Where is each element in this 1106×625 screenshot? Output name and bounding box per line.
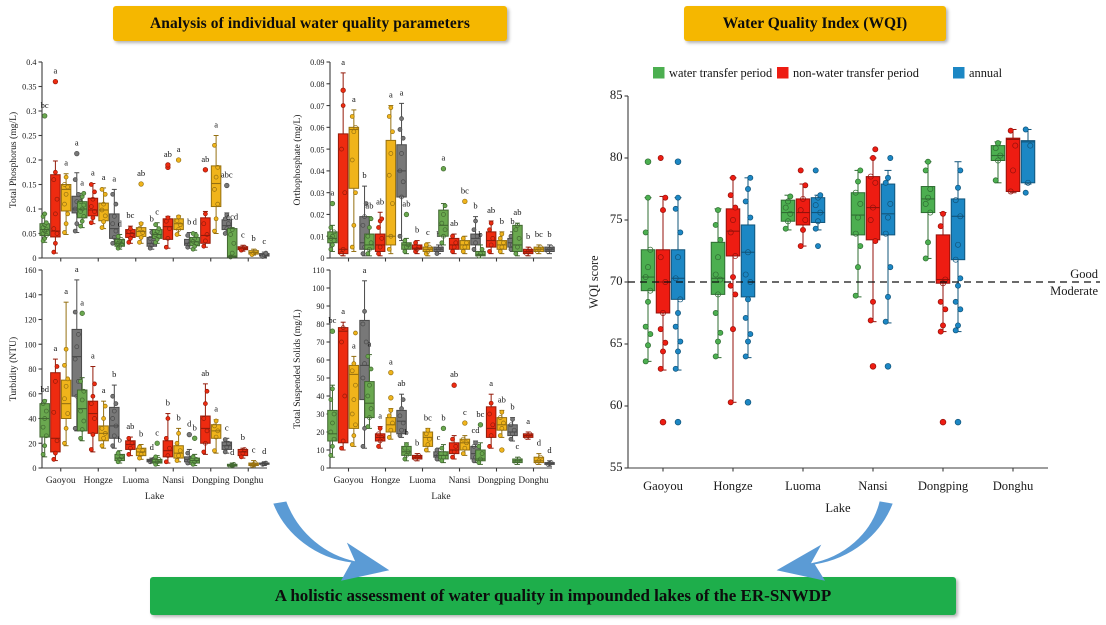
significance-letter: c	[437, 432, 441, 442]
wqi-y-tick-label: 60	[610, 398, 623, 412]
significance-letter: bc	[41, 100, 49, 110]
data-point	[128, 227, 132, 231]
box-wqi-Donghu-annual	[1021, 127, 1035, 195]
down-arrow-left	[268, 500, 398, 582]
box-orthophosphate-Luoma-green: ab	[402, 198, 412, 253]
data-point	[743, 315, 748, 320]
data-point	[643, 359, 648, 364]
total_suspended_solids-y-tick-label: 110	[313, 266, 325, 275]
data-point	[645, 299, 650, 304]
box-rect	[72, 329, 82, 396]
data-point	[748, 175, 753, 180]
data-point	[43, 399, 47, 403]
box-total_suspended_solids-Nansi-red: ab	[449, 369, 459, 459]
data-point	[223, 450, 227, 454]
box-wqi-Nansi-water transfer period	[851, 168, 865, 298]
data-point	[1023, 127, 1028, 132]
data-point	[855, 179, 860, 184]
box-total_phosphorus-Gaoyou-yellow: a	[61, 158, 71, 235]
data-point	[673, 206, 678, 211]
box-total_suspended_solids-Dongping-red: a	[486, 378, 496, 448]
data-point	[329, 453, 333, 457]
outlier-point	[187, 432, 192, 437]
data-point	[870, 155, 875, 160]
turbidity-y-tick-label: 20	[28, 439, 36, 448]
x-category-label-dongping: Dongping	[192, 476, 230, 486]
outlier-point	[155, 441, 160, 446]
data-point	[803, 183, 808, 188]
box-wqi-Gaoyou-annual	[671, 159, 685, 425]
significance-letter: a	[389, 357, 393, 367]
legend-swatch-2	[953, 67, 965, 79]
x-category-label-nansi: Nansi	[449, 476, 471, 486]
outlier-point	[203, 168, 208, 173]
data-point	[815, 243, 820, 248]
data-point	[389, 106, 393, 110]
data-point	[730, 327, 735, 332]
x-category-label-dongping: Dongping	[478, 476, 516, 486]
legend-swatch-1	[777, 67, 789, 79]
orthophosphate-y-tick-label: 0.06	[310, 124, 324, 133]
outlier-point	[463, 199, 468, 204]
orthophosphate-y-tick-label: 0.04	[310, 167, 324, 176]
significance-letter: a	[91, 351, 95, 361]
wqi-legend: water transfer periodnon-water transfer …	[653, 66, 1003, 80]
total_suspended_solids-y-tick-label: 90	[316, 302, 324, 311]
individual-parameters-svg: 00.050.10.150.20.250.30.350.4Total Phosp…	[0, 48, 580, 518]
data-point	[164, 436, 168, 440]
data-point	[64, 347, 68, 351]
data-point	[75, 222, 79, 226]
significance-letter: ab	[376, 196, 384, 206]
data-point	[461, 452, 465, 456]
box-turbidity-Donghu-yellow: c	[249, 445, 259, 468]
data-point	[745, 186, 750, 191]
box-orthophosphate-Nansi-red: ab	[449, 218, 459, 254]
total_suspended_solids-y-tick-label: 60	[316, 356, 324, 365]
data-point	[352, 434, 356, 438]
data-point	[350, 114, 354, 118]
wqi-panel: water transfer periodnon-water transfer …	[580, 48, 1106, 518]
box-total_phosphorus-Donghu-yellow: b	[249, 233, 259, 256]
banner-right-title: Water Quality Index (WQI)	[684, 6, 946, 41]
data-point	[353, 191, 357, 195]
data-point	[111, 444, 115, 448]
data-point	[139, 222, 143, 226]
data-point	[938, 299, 943, 304]
data-point	[783, 226, 788, 231]
data-point	[139, 235, 143, 239]
data-point	[658, 366, 663, 371]
data-point	[813, 226, 818, 231]
outlier-point	[225, 183, 230, 188]
data-point	[400, 117, 404, 121]
significance-letter: ab	[402, 198, 410, 208]
data-point	[53, 170, 57, 174]
significance-letter: ab	[164, 149, 172, 159]
significance-letter: b	[118, 435, 122, 445]
x-category-label-gaoyou: Gaoyou	[643, 479, 684, 493]
data-point	[472, 247, 476, 251]
box-turbidity-Nansi-red: b	[163, 398, 173, 464]
legend-label-2: annual	[969, 66, 1003, 80]
data-point	[116, 234, 120, 238]
data-point	[398, 434, 402, 438]
box-rect	[386, 140, 396, 245]
data-point	[191, 455, 195, 459]
box-turbidity-Donghu-red: b	[238, 432, 248, 459]
significance-letter: a	[80, 177, 84, 187]
box-wqi-Donghu-non-water transfer period	[1006, 128, 1020, 194]
data-point	[329, 226, 333, 230]
orthophosphate-y-tick-label: 0.09	[310, 58, 324, 67]
box-orthophosphate-Dongping-red: ab	[486, 205, 496, 254]
data-point	[111, 241, 115, 245]
data-point	[202, 244, 206, 248]
outlier-point	[478, 423, 483, 428]
data-point	[645, 195, 650, 200]
significance-letter: a	[526, 416, 530, 426]
data-point	[870, 299, 875, 304]
data-point	[498, 249, 502, 253]
data-point	[116, 451, 120, 455]
data-point	[91, 394, 95, 398]
turbidity-y-axis-title: Turbidity (NTU)	[8, 337, 19, 401]
data-point	[175, 232, 179, 236]
significance-letter: bc	[328, 315, 336, 325]
total_phosphorus-y-tick-label: 0.3	[26, 107, 36, 116]
significance-letter: c	[155, 207, 159, 217]
x-category-label-dongping: Dongping	[918, 479, 969, 493]
data-point	[166, 216, 170, 220]
data-point	[127, 240, 131, 244]
total_suspended_solids-y-tick-label: 40	[316, 392, 324, 401]
individual-parameters-panel: 00.050.10.150.20.250.30.350.4Total Phosp…	[0, 48, 580, 518]
orthophosphate-y-tick-label: 0.07	[310, 102, 324, 111]
data-point	[715, 339, 720, 344]
data-point	[100, 187, 104, 191]
significance-letter: a	[54, 66, 58, 76]
data-point	[673, 366, 678, 371]
data-point	[41, 452, 45, 456]
significance-letter: b	[166, 398, 170, 408]
data-point	[488, 228, 492, 232]
significance-letter: b	[404, 427, 408, 437]
significance-letter: a	[91, 168, 95, 178]
data-point	[100, 226, 104, 230]
data-point	[264, 251, 268, 255]
data-point	[480, 247, 484, 251]
data-point	[114, 202, 118, 206]
significance-letter: b	[139, 428, 143, 438]
outlier-point	[870, 363, 876, 369]
threshold-label-good: Good	[1070, 267, 1099, 281]
total_phosphorus-y-tick-label: 0.05	[22, 230, 36, 239]
significance-letter: ab	[450, 218, 458, 228]
significance-letter: b	[478, 229, 482, 239]
data-point	[728, 400, 733, 405]
data-point	[137, 240, 141, 244]
box-wqi-Luoma-non-water transfer period	[796, 168, 810, 249]
data-point	[361, 444, 365, 448]
orthophosphate-y-tick-label: 0.03	[310, 189, 324, 198]
data-point	[205, 389, 209, 393]
box-rect	[851, 193, 865, 235]
significance-letter: d	[150, 442, 155, 452]
data-point	[203, 402, 207, 406]
box-rect	[449, 443, 459, 454]
wqi-y-tick-label: 80	[610, 150, 623, 164]
data-point	[678, 230, 683, 235]
x-category-label-nansi: Nansi	[162, 476, 184, 486]
significance-letter: ab	[137, 168, 145, 178]
data-point	[643, 230, 648, 235]
significance-letter: ab	[513, 207, 521, 217]
data-point	[663, 195, 668, 200]
outlier-point	[330, 201, 335, 206]
outlier-point	[441, 426, 446, 431]
box-total_phosphorus-Hongze-green: a	[77, 177, 87, 228]
x-category-label-gaoyou: Gaoyou	[46, 476, 76, 486]
data-point	[191, 232, 195, 236]
box-rect	[951, 199, 965, 260]
data-point	[730, 274, 735, 279]
threshold-label-moderate: Moderate	[1050, 284, 1098, 298]
data-point	[488, 249, 492, 253]
data-point	[748, 215, 753, 220]
orthophosphate-y-tick-label: 0	[320, 254, 324, 263]
data-point	[451, 234, 455, 238]
significance-letter: ab	[498, 394, 506, 404]
data-point	[64, 222, 68, 226]
data-point	[93, 190, 97, 194]
significance-letter: a	[378, 411, 382, 421]
data-point	[885, 175, 890, 180]
box-total_phosphorus-Nansi-yellow: a	[174, 144, 184, 236]
data-point	[858, 168, 863, 173]
data-point	[89, 183, 93, 187]
significance-letter: b	[187, 217, 191, 227]
total_suspended_solids-chart: 0102030405060708090100110Total Suspended…	[292, 265, 554, 502]
total_phosphorus-chart: 00.050.10.150.20.250.30.350.4Total Phosp…	[8, 58, 269, 263]
data-point	[361, 252, 365, 256]
data-point	[451, 437, 455, 441]
significance-letter: d	[187, 419, 192, 429]
significance-letter: b	[112, 369, 116, 379]
significance-letter: a	[54, 343, 58, 353]
data-point	[855, 265, 860, 270]
data-point	[387, 414, 391, 418]
x-category-label-luoma: Luoma	[785, 479, 821, 493]
orthophosphate-chart: 00.010.020.030.040.050.060.070.080.09Ort…	[292, 57, 554, 263]
significance-letter: ab	[201, 368, 209, 378]
box-total_suspended_solids-Luoma-red: b	[412, 438, 422, 461]
significance-letter: a	[352, 94, 356, 104]
turbidity-y-tick-label: 40	[28, 415, 36, 424]
data-point	[66, 377, 70, 381]
legend-label-1: non-water transfer period	[793, 66, 920, 80]
turbidity-y-tick-label: 120	[24, 316, 36, 325]
data-point	[675, 195, 680, 200]
data-point	[435, 252, 439, 256]
data-point	[212, 229, 216, 233]
significance-letter: bd	[40, 384, 49, 394]
outlier-point	[463, 421, 468, 426]
data-point	[713, 222, 718, 227]
data-point	[958, 276, 963, 281]
data-point	[403, 249, 407, 253]
data-point	[713, 310, 718, 315]
box-wqi-Hongze-water transfer period	[711, 207, 725, 359]
data-point	[718, 330, 723, 335]
significance-letter: a	[363, 265, 367, 275]
data-point	[400, 407, 404, 411]
box-turbidity-Donghu-gray: d	[260, 446, 270, 466]
data-point	[958, 168, 963, 173]
data-point	[212, 143, 216, 147]
total_suspended_solids-y-tick-label: 80	[316, 320, 324, 329]
outlier-point	[192, 436, 197, 441]
data-point	[658, 327, 663, 332]
data-point	[798, 168, 803, 173]
banner-bottom-conclusion: A holistic assessment of water quality i…	[150, 577, 956, 615]
box-orthophosphate-Luoma-yellow: c	[423, 227, 433, 256]
significance-letter: d	[262, 446, 267, 456]
significance-letter: c	[155, 427, 159, 437]
box-rect	[641, 250, 655, 291]
significance-letter: a	[331, 188, 335, 198]
data-point	[177, 215, 181, 219]
data-point	[489, 401, 493, 405]
box-orthophosphate-Hongze-gray: a	[397, 87, 407, 240]
data-point	[128, 236, 132, 240]
data-point	[745, 339, 750, 344]
significance-letter: a	[389, 90, 393, 100]
significance-letter: c	[225, 422, 229, 432]
data-point	[800, 227, 805, 232]
data-point	[925, 240, 930, 245]
box-orthophosphate-Gaoyou-green: a	[328, 188, 338, 252]
data-point	[993, 178, 998, 183]
significance-letter: c	[516, 441, 520, 451]
box-wqi-Dongping-non-water transfer period	[936, 211, 950, 425]
significance-letter: a	[112, 173, 116, 183]
significance-letter: c	[426, 227, 430, 237]
data-point	[403, 239, 407, 243]
significance-letter: ab	[201, 154, 209, 164]
total_phosphorus-y-tick-label: 0.35	[22, 83, 36, 92]
data-point	[111, 192, 115, 196]
box-wqi-Nansi-annual	[881, 155, 895, 369]
data-point	[177, 431, 181, 435]
data-point	[52, 457, 56, 461]
turbidity-x-axis-title: Lake	[145, 491, 164, 502]
data-point	[498, 434, 502, 438]
data-point	[443, 204, 447, 208]
box-total_phosphorus-Dongping-red: ab	[201, 154, 211, 248]
data-point	[103, 192, 107, 196]
box-total_phosphorus-Hongze-red: a	[88, 168, 98, 225]
data-point	[55, 365, 59, 369]
x-category-label-gaoyou: Gaoyou	[334, 476, 364, 486]
significance-letter: a	[64, 158, 68, 168]
box-total_suspended_solids-Donghu-red: a	[523, 416, 533, 439]
data-point	[678, 339, 683, 344]
box-total_phosphorus-Donghu-gray: c	[260, 236, 270, 258]
box-wqi-Luoma-water transfer period	[781, 194, 795, 231]
data-point	[398, 234, 402, 238]
significance-letter: c	[241, 229, 245, 239]
data-point	[212, 449, 216, 453]
box-total_phosphorus-Nansi-red: ab	[163, 149, 173, 249]
wqi-y-tick-label: 85	[610, 88, 623, 102]
box-turbidity-Dongping-yellow: a	[211, 404, 221, 453]
significance-letter: a	[102, 385, 106, 395]
data-point	[350, 443, 354, 447]
outlier-point	[139, 182, 144, 187]
total_suspended_solids-y-tick-label: 100	[312, 284, 324, 293]
outlier-point	[500, 448, 505, 453]
significance-letter: b	[176, 412, 180, 422]
data-point	[940, 211, 945, 216]
outlier-point	[441, 166, 446, 171]
data-point	[340, 446, 344, 450]
data-point	[73, 310, 77, 314]
wqi-y-tick-label: 55	[610, 460, 623, 474]
box-total_phosphorus-Dongping-yellow: a	[211, 120, 221, 234]
data-point	[673, 324, 678, 329]
data-point	[350, 245, 354, 249]
data-point	[73, 229, 77, 233]
data-point	[958, 307, 963, 312]
significance-letter: a	[75, 138, 79, 148]
box-wqi-Gaoyou-water transfer period	[641, 159, 655, 364]
box-orthophosphate-Donghu-yellow: bc	[534, 229, 544, 254]
data-point	[888, 155, 893, 160]
box-total_phosphorus-Gaoyou-green: bc	[40, 100, 50, 243]
significance-letter: d	[193, 217, 198, 227]
outlier-point	[389, 370, 394, 375]
box-total_suspended_solids-Hongze-red: a	[375, 411, 385, 449]
turbidity-y-tick-label: 160	[24, 266, 36, 275]
data-point	[330, 243, 334, 247]
data-point	[873, 238, 878, 243]
box-turbidity-Luoma-green: b	[115, 435, 125, 464]
significance-letter: a	[400, 87, 404, 97]
box-rect	[201, 218, 211, 243]
significance-letter: b	[473, 201, 477, 211]
data-point	[955, 323, 960, 328]
data-point	[378, 426, 382, 430]
turbidity-y-tick-label: 100	[24, 340, 36, 349]
significance-letter: a	[442, 153, 446, 163]
data-point	[330, 444, 334, 448]
data-point	[186, 233, 190, 237]
box-turbidity-Hongze-red: a	[88, 351, 98, 452]
data-point	[363, 309, 367, 313]
data-point	[489, 221, 493, 225]
data-point	[66, 212, 70, 216]
outlier-point	[80, 311, 85, 316]
data-point	[472, 228, 476, 232]
box-rect	[866, 177, 880, 240]
significance-letter: abc	[221, 169, 233, 179]
box-wqi-Hongze-non-water transfer period	[726, 175, 740, 405]
outlier-point	[745, 399, 751, 405]
total_suspended_solids-y-tick-label: 70	[316, 338, 324, 347]
box-rect	[781, 200, 795, 221]
data-point	[380, 217, 384, 221]
